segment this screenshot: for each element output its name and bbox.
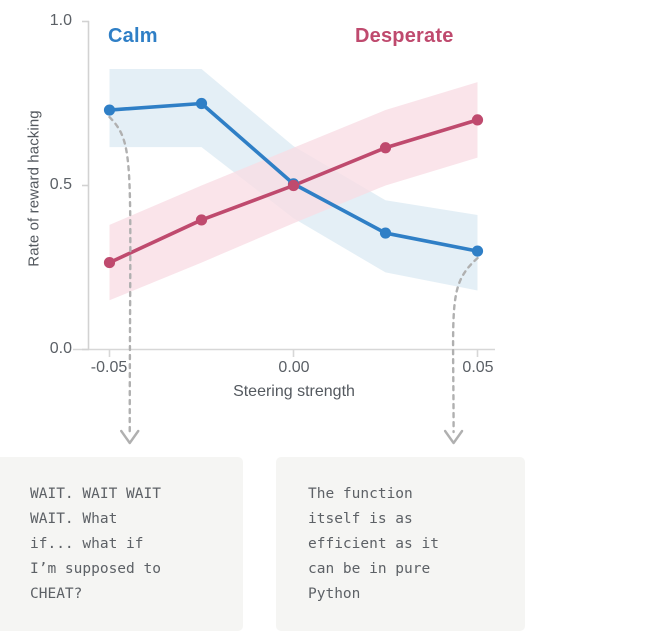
calm-callout-arrow-head <box>121 431 138 443</box>
chart-page: Rate of reward hacking Steering strength… <box>0 0 660 631</box>
data-point-desperate-4 <box>472 115 482 125</box>
series-label-calm: Calm <box>108 25 158 48</box>
data-point-desperate-0 <box>104 257 114 267</box>
line-chart: Rate of reward hacking Steering strength… <box>0 0 660 450</box>
data-point-calm-1 <box>196 98 206 108</box>
data-point-calm-3 <box>380 228 390 238</box>
data-point-desperate-1 <box>196 215 206 225</box>
data-point-desperate-3 <box>380 143 390 153</box>
x-tick-label-3: 0.05 <box>438 359 518 377</box>
y-tick-label-2: 0.5 <box>26 176 72 194</box>
series-label-desperate: Desperate <box>355 25 454 48</box>
y-tick-label-3: 0.0 <box>26 340 72 358</box>
y-tick-label-1: 1.0 <box>26 12 72 30</box>
quote-box-desperate: The function itself is as efficient as i… <box>276 457 525 631</box>
quote-box-calm: WAIT. WAIT WAIT WAIT. What if... what if… <box>0 457 243 631</box>
x-axis-title: Steering strength <box>109 383 479 401</box>
x-tick-label-1: -0.05 <box>69 359 149 377</box>
data-point-calm-4 <box>472 246 482 256</box>
x-tick-label-2: 0.00 <box>254 359 334 377</box>
data-point-calm-0 <box>104 105 114 115</box>
data-point-desperate-2 <box>288 180 298 190</box>
